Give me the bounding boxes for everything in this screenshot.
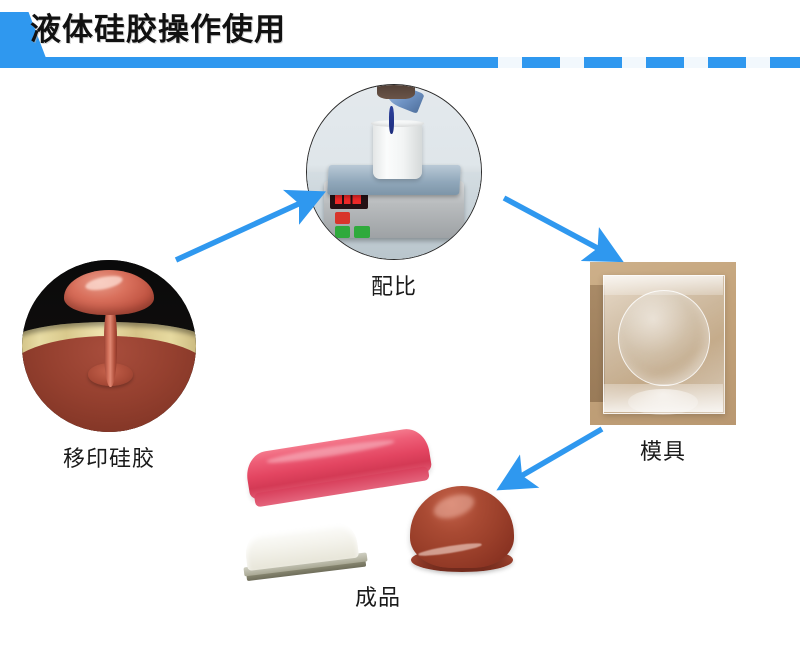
silicone-photo <box>22 260 196 432</box>
ratio-hand <box>377 84 415 99</box>
ratio-photo <box>306 84 482 260</box>
product-pad-pink-highlight <box>266 437 395 465</box>
product-pad-dome <box>410 486 514 580</box>
page-header: 液体硅胶操作使用 <box>0 0 800 72</box>
header-bar-solid <box>0 57 460 68</box>
flow-step-ratio: 配比 <box>306 84 482 301</box>
arrow-mold-to-products <box>492 424 612 500</box>
mold-bottom-bevel <box>603 384 723 412</box>
header-bar-dashed <box>460 57 800 68</box>
ratio-pour-stream <box>389 106 394 134</box>
page-title: 液体硅胶操作使用 <box>30 9 286 51</box>
flow-step-products: 成品 <box>228 428 528 598</box>
product-pad-pink <box>244 426 433 500</box>
ratio-scale-button-green-right <box>354 226 370 238</box>
ratio-bucket <box>373 123 422 179</box>
flow-step-label-silicone: 移印硅胶 <box>22 441 196 473</box>
flow-step-label-products: 成品 <box>228 580 528 612</box>
product-pad-white <box>240 521 369 584</box>
arrow-silicone-to-ratio <box>170 186 330 266</box>
ratio-scale-button-red <box>335 212 351 224</box>
mold-photo <box>590 262 736 425</box>
product-pad-dome-highlight <box>431 490 477 523</box>
flow-step-silicone: 移印硅胶 <box>22 260 196 473</box>
arrow-ratio-to-mold <box>500 192 630 272</box>
ratio-scale-button-green-left <box>335 226 351 238</box>
silicone-stream <box>104 305 117 388</box>
mold-sphere-cavity <box>618 290 711 387</box>
flow-step-label-ratio: 配比 <box>306 269 482 301</box>
